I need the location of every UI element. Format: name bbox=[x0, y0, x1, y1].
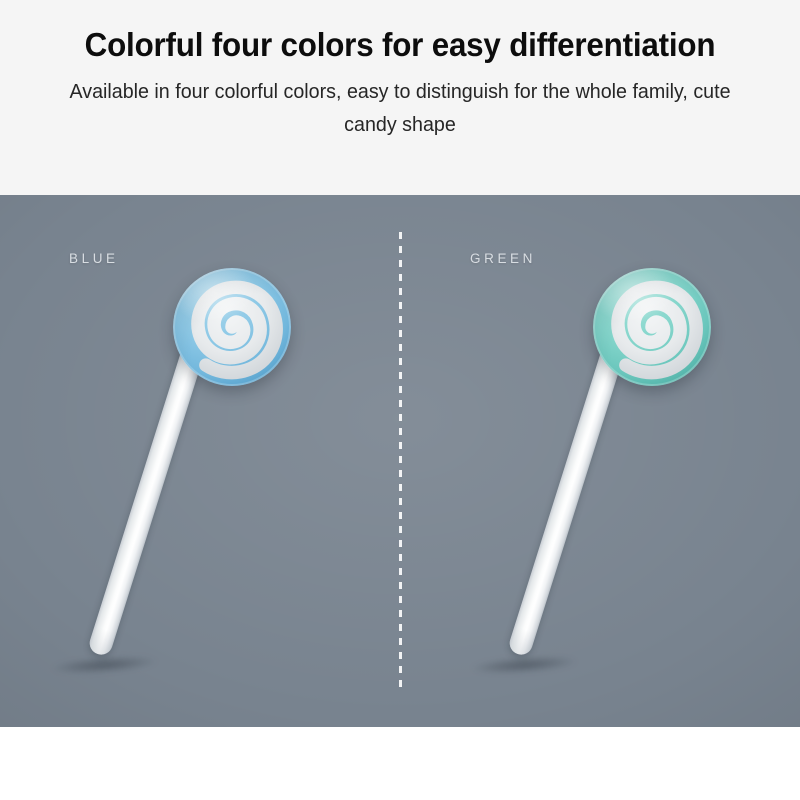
page-subtitle: Available in four colorful colors, easy … bbox=[64, 75, 736, 141]
stick-shadow-green bbox=[468, 649, 607, 679]
product-photo-panel: BLUE bbox=[0, 195, 800, 727]
divider-dashed-line bbox=[399, 232, 402, 690]
candy-head-green bbox=[593, 268, 711, 386]
page-title: Colorful four colors for easy differenti… bbox=[39, 26, 761, 65]
footer-whitespace bbox=[0, 727, 800, 800]
header-banner: Colorful four colors for easy differenti… bbox=[0, 0, 800, 195]
lollipop-green bbox=[435, 250, 735, 727]
stick-shadow-blue bbox=[48, 649, 187, 679]
lollipop-blue bbox=[15, 250, 315, 727]
candy-head-blue bbox=[173, 268, 291, 386]
